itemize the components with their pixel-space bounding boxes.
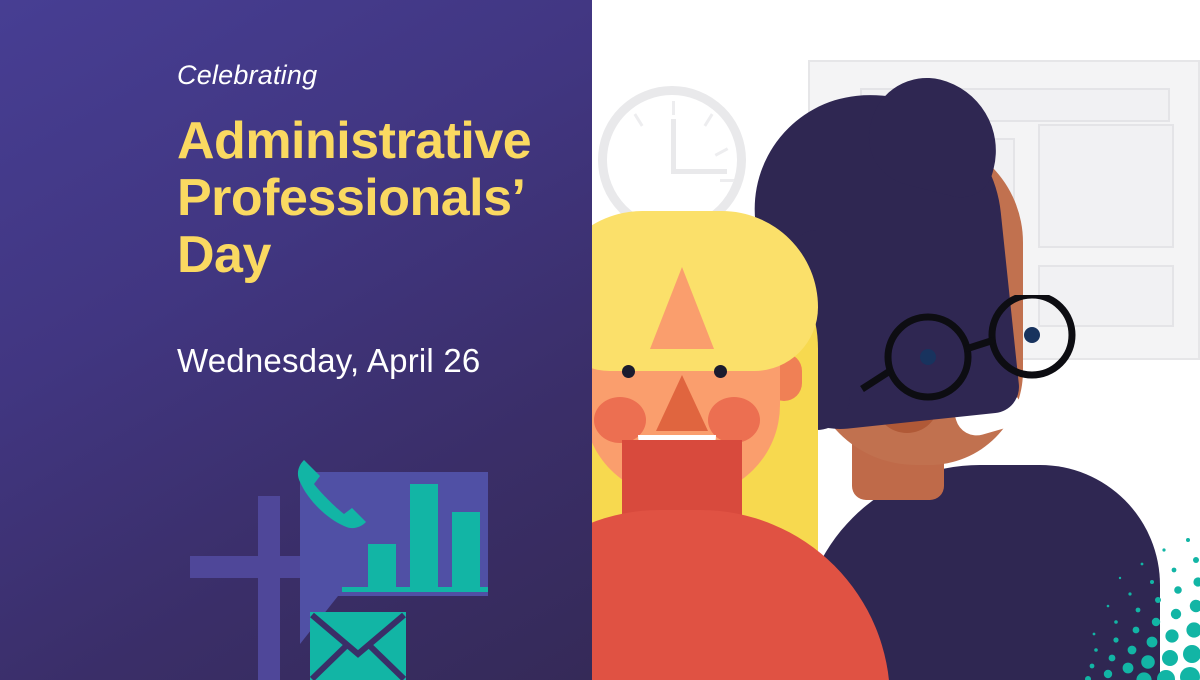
plus-shape-icon bbox=[258, 496, 280, 680]
icon-cluster bbox=[186, 452, 506, 680]
chart-bar bbox=[452, 512, 480, 588]
headline-block: Celebrating Administrative Professionals… bbox=[177, 60, 577, 380]
clock-hour-hand bbox=[671, 169, 727, 174]
page-title: Administrative Professionals’ Day bbox=[177, 113, 577, 284]
poster-canvas: Celebrating Administrative Professionals… bbox=[0, 0, 1200, 680]
eye bbox=[622, 365, 635, 378]
envelope-icon bbox=[310, 612, 406, 680]
chart-bar bbox=[410, 484, 438, 588]
clock-minute-hand bbox=[671, 119, 676, 173]
phone-handset-icon bbox=[296, 456, 372, 534]
round-glasses-icon bbox=[860, 295, 1080, 405]
eyebrow-text: Celebrating bbox=[177, 60, 577, 91]
left-purple-panel: Celebrating Administrative Professionals… bbox=[0, 0, 592, 680]
event-date: Wednesday, April 26 bbox=[177, 342, 577, 380]
chart-bar bbox=[368, 544, 396, 588]
chart-baseline bbox=[342, 587, 488, 592]
eye bbox=[714, 365, 727, 378]
